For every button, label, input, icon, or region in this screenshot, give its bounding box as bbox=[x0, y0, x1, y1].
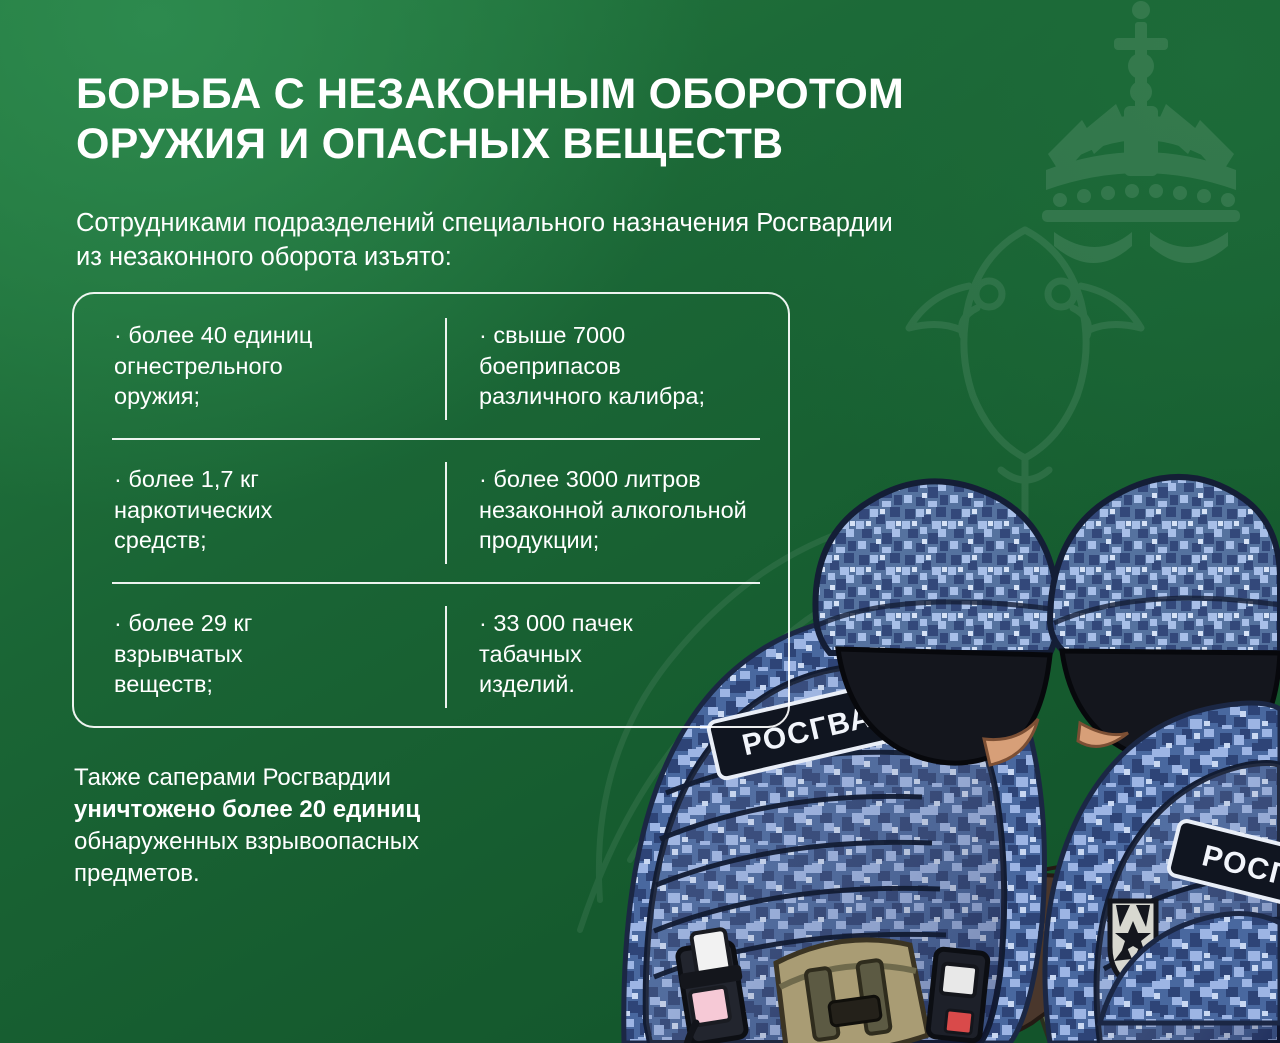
stat-line: · 33 000 пачек bbox=[479, 608, 770, 639]
stat-line: веществ; bbox=[114, 669, 413, 700]
officer-right: РОСГ bbox=[1045, 477, 1280, 1043]
stat-line: табачных bbox=[479, 639, 770, 670]
stat-line: незаконной алкогольной bbox=[479, 495, 770, 526]
stats-row: · более 40 единиц огнестрельного оружия;… bbox=[74, 294, 788, 438]
stat-line: средств; bbox=[114, 525, 413, 556]
svg-text:РОСГ: РОСГ bbox=[1199, 839, 1280, 892]
stat-line: наркотических bbox=[114, 495, 413, 526]
intro-line-2: из незаконного оборота изъято: bbox=[76, 241, 1156, 275]
stat-line: различного калибра; bbox=[479, 381, 770, 412]
footer-line-3: обнаруженных взрывоопасных bbox=[74, 826, 614, 858]
officer-left-head bbox=[815, 481, 1058, 765]
rosgvardiya-patch-right: РОСГ bbox=[1167, 819, 1280, 927]
stats-cell: · 33 000 пачек табачных изделий. bbox=[431, 582, 788, 726]
intro-paragraph: Сотрудниками подразделений специального … bbox=[76, 207, 1156, 274]
stats-row: · более 29 кг взрывчатых веществ; · 33 0… bbox=[74, 582, 788, 726]
stats-cell: · свыше 7000 боеприпасов различного кали… bbox=[431, 294, 788, 438]
stat-line: огнестрельного bbox=[114, 351, 413, 382]
stat-line: продукции; bbox=[479, 525, 770, 556]
stat-line: · более 3000 литров bbox=[479, 464, 770, 495]
title-line-1: БОРЬБА С НЕЗАКОННЫМ ОБОРОТОМ bbox=[76, 70, 1076, 120]
stat-line: взрывчатых bbox=[114, 639, 413, 670]
title-line-2: ОРУЖИЯ И ОПАСНЫХ ВЕЩЕСТВ bbox=[76, 120, 1076, 170]
stat-line: изделий. bbox=[479, 669, 770, 700]
stat-line: · свыше 7000 bbox=[479, 320, 770, 351]
footer-line-2: уничтожено более 20 единиц bbox=[74, 794, 614, 826]
stats-row: · более 1,7 кг наркотических средств; · … bbox=[74, 438, 788, 582]
shield-sleeve-patch bbox=[1110, 901, 1156, 987]
stats-cell: · более 1,7 кг наркотических средств; bbox=[74, 438, 431, 582]
stat-line: · более 1,7 кг bbox=[114, 464, 413, 495]
radio-pouch bbox=[928, 949, 989, 1042]
utility-pouch bbox=[776, 940, 928, 1043]
page-title: БОРЬБА С НЕЗАКОННЫМ ОБОРОТОМ ОРУЖИЯ И ОП… bbox=[76, 70, 1076, 170]
stat-line: оружия; bbox=[114, 381, 413, 412]
stats-cell: · более 3000 литров незаконной алкогольн… bbox=[431, 438, 788, 582]
stats-cell: · более 40 единиц огнестрельного оружия; bbox=[74, 294, 431, 438]
infographic-poster: РОСГВАРДИЯ bbox=[0, 0, 1280, 1043]
footer-line-1: Также саперами Росгвардии bbox=[74, 762, 614, 794]
detained-person bbox=[750, 866, 1280, 1043]
stat-line: · более 29 кг bbox=[114, 608, 413, 639]
stats-cell: · более 29 кг взрывчатых веществ; bbox=[74, 582, 431, 726]
intro-line-1: Сотрудниками подразделений специального … bbox=[76, 207, 1156, 241]
side-pouches bbox=[677, 929, 747, 1043]
stat-line: · более 40 единиц bbox=[114, 320, 413, 351]
footer-note: Также саперами Росгвардии уничтожено бол… bbox=[74, 762, 614, 890]
footer-line-4: предметов. bbox=[74, 858, 614, 890]
stat-line: боеприпасов bbox=[479, 351, 770, 382]
statistics-card: · более 40 единиц огнестрельного оружия;… bbox=[72, 292, 790, 728]
